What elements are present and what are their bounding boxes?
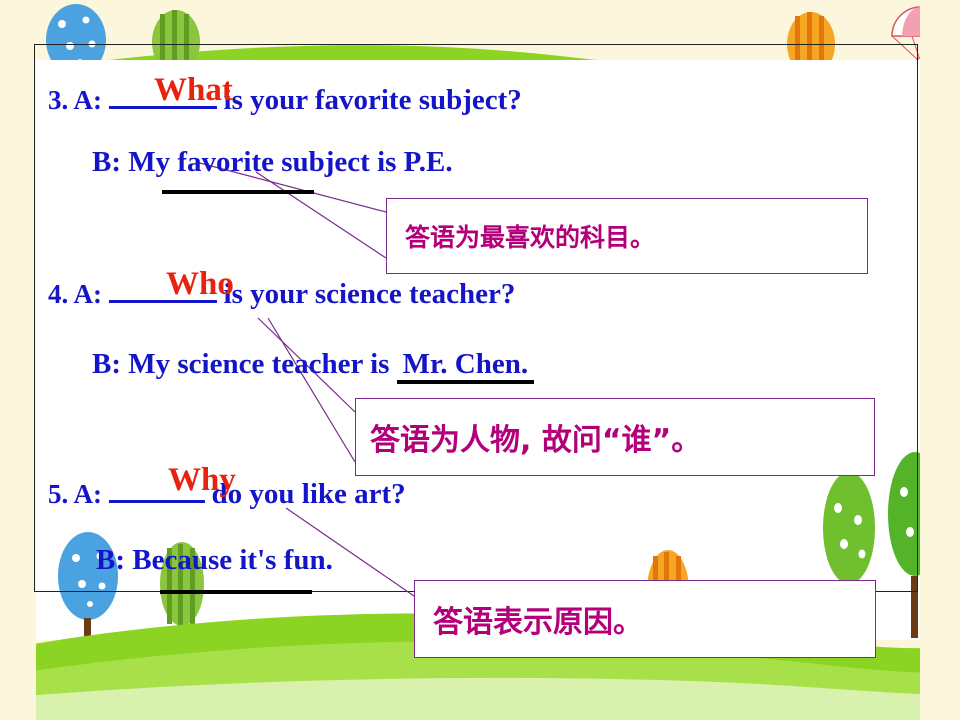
item-4-reply-text: My science teacher is xyxy=(128,348,389,380)
item-3-question-text: is your favorite subject? xyxy=(224,84,522,116)
slide: 3. A: is your favorite subject? What B: … xyxy=(0,0,960,720)
item-3-reply-line: B: My favorite subject is P.E. xyxy=(92,146,453,179)
item-5-reply-line: B: Because it's fun. xyxy=(96,544,333,577)
item-number-text: 4. xyxy=(48,279,68,309)
answer-blank-5 xyxy=(109,500,205,503)
speaker-b-label: B: xyxy=(92,348,121,380)
item-3-number: 3. A: is your favorite subject? xyxy=(48,84,522,117)
speaker-b-label: B: xyxy=(96,544,125,576)
item-4-reply-line: B: My science teacher is Mr. Chen. xyxy=(92,348,534,381)
item-5-underline xyxy=(160,590,312,594)
speaker-a-label: A: xyxy=(74,479,103,509)
note-box-4: 答语为人物, 故问“谁”。 xyxy=(355,398,875,476)
speaker-b-label: B: xyxy=(92,146,121,178)
item-number-text: 5. xyxy=(48,479,68,509)
item-5-reply-text: Because it's fun. xyxy=(132,544,333,576)
item-4-answer: Who xyxy=(166,266,234,303)
item-3-underline xyxy=(162,190,314,194)
item-5-answer: Why xyxy=(168,462,236,499)
item-4-number: 4. A: is your science teacher? xyxy=(48,278,515,311)
left-margin xyxy=(0,0,36,720)
right-margin xyxy=(920,0,960,720)
item-5-question-text: do you like art? xyxy=(212,478,406,510)
note-box-5: 答语表示原因。 xyxy=(414,580,876,658)
speaker-a-label: A: xyxy=(74,279,103,309)
item-number-text: 3. xyxy=(48,85,68,115)
note-box-3: 答语为最喜欢的科目。 xyxy=(386,198,868,274)
item-4-question-text: is your science teacher? xyxy=(224,278,516,310)
item-4-reply-underlined: Mr. Chen. xyxy=(397,348,534,384)
item-3-reply-text: My favorite subject is P.E. xyxy=(128,146,452,178)
item-3-answer: What xyxy=(154,72,233,109)
speaker-a-label: A: xyxy=(74,85,103,115)
